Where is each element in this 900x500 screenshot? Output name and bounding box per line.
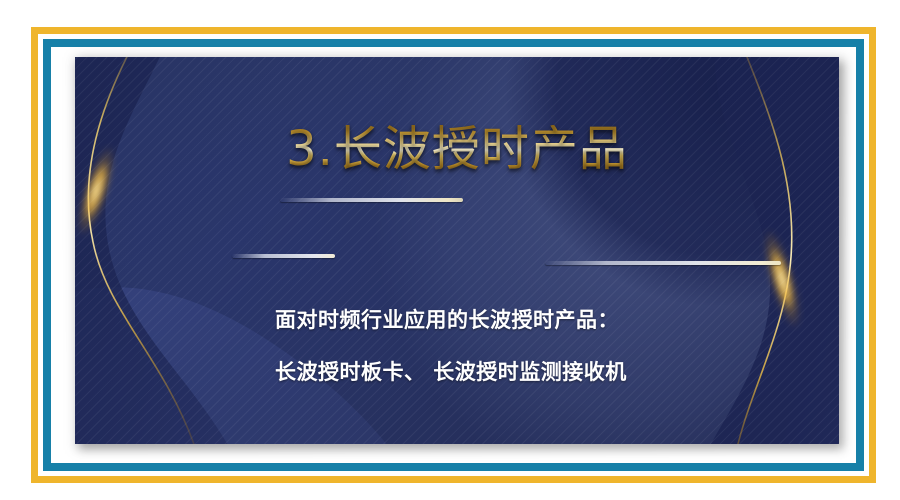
gold-curve-right-line — [629, 57, 839, 444]
diagonal-stripe-texture — [75, 57, 839, 444]
title-rule-bottom-right — [545, 261, 781, 265]
slide-title: 3.长波授时产品 — [286, 125, 628, 173]
content-panel: 3.长波授时产品 面对时频行业应用的长波授时产品： 长波授时板卡、 长波授时监测… — [75, 57, 839, 444]
subtitle-line-2: 长波授时板卡、 长波授时监测接收机 — [275, 362, 765, 383]
subtitle-block: 面对时频行业应用的长波授时产品： 长波授时板卡、 长波授时监测接收机 — [205, 310, 765, 383]
title-rule-bottom-left — [232, 254, 335, 258]
subtitle-line-1: 面对时频行业应用的长波授时产品： — [275, 310, 765, 331]
gold-curve-left-line — [75, 57, 305, 444]
dark-circle-shape — [505, 57, 839, 307]
light-ellipse-shape — [375, 57, 839, 444]
wave-left-shape — [75, 57, 355, 444]
panel-decorations — [75, 57, 839, 444]
title-rule-top — [280, 198, 463, 202]
slide-canvas: 3.长波授时产品 面对时频行业应用的长波授时产品： 长波授时板卡、 长波授时监测… — [0, 0, 900, 500]
title-block: 3.长波授时产品 — [75, 125, 839, 173]
wave-right-shape — [569, 57, 839, 444]
